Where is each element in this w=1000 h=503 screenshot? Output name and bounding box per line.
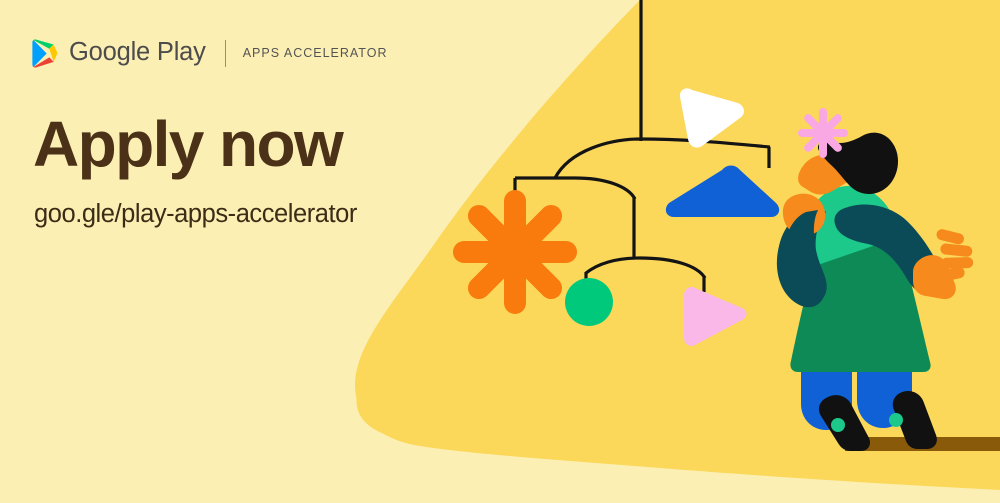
mobile-arm-bottom [586,258,705,278]
triangle-blue [666,166,779,218]
triangle-white [680,88,744,147]
headline-apply-now: Apply now [33,112,342,177]
logo-divider [225,40,226,67]
apps-accelerator-wordmark: APPS ACCELERATOR [243,46,388,60]
promo-banner: Google Play APPS ACCELERATOR Apply now g… [0,0,1000,503]
google-play-triangle-icon [32,39,58,68]
circle-green [565,278,613,326]
finger-2 [940,243,973,257]
person-figure [777,108,973,451]
starburst-orange [453,190,577,314]
url-text[interactable]: goo.gle/play-apps-accelerator [34,200,357,229]
dot-green-right [889,413,903,427]
google-play-wordmark: Google Play [69,40,206,66]
dot-green-left [831,418,845,432]
finger-1 [935,228,965,245]
google-play-logo-lockup[interactable]: Google Play APPS ACCELERATOR [32,36,387,70]
mobile-arm-middle [515,178,635,199]
finger-3 [941,257,973,269]
illustration-mobile-sculpture [0,0,1000,503]
sparkle-pink [798,108,848,158]
triangle-pink [684,287,747,346]
